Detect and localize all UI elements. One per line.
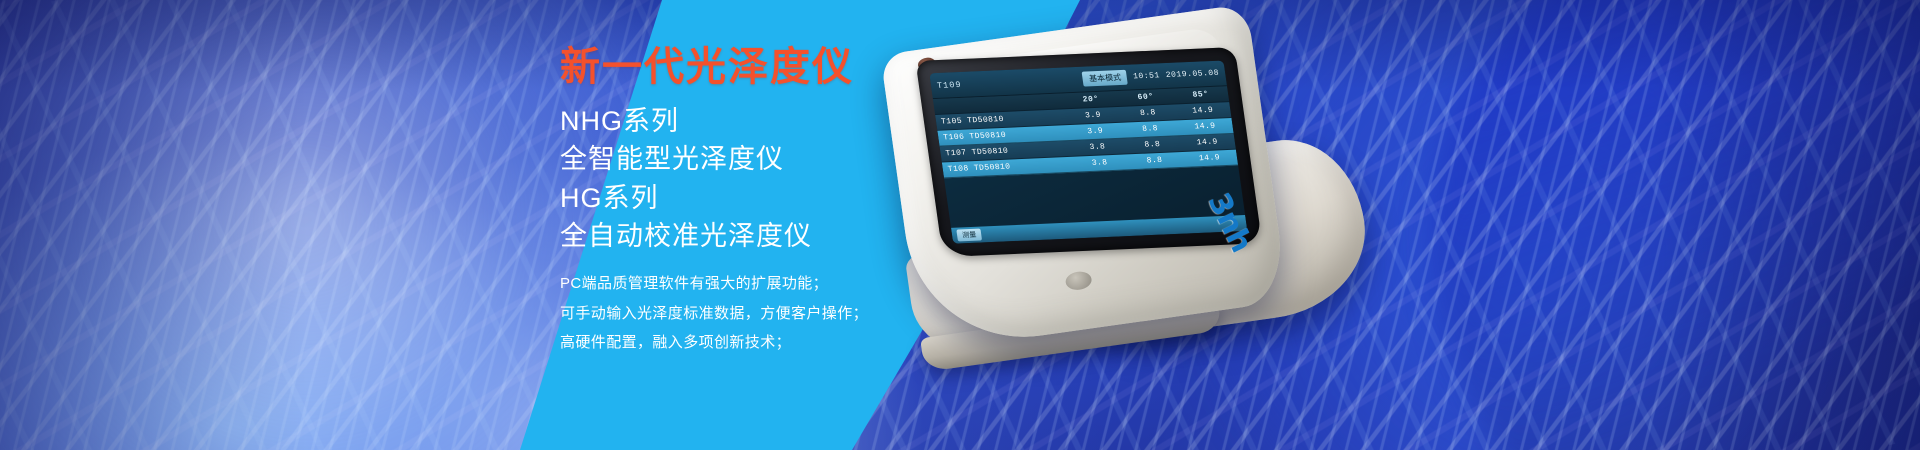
cell-60deg: 8.8 [1126, 152, 1183, 169]
feature-line-1: PC端品质管理软件有强大的扩展功能； [560, 269, 1030, 298]
col-header-85deg: 85° [1172, 86, 1229, 103]
clock-label: 10:51 [1133, 71, 1161, 81]
col-header-60deg: 60° [1117, 89, 1174, 106]
subtitle-line-3: HG系列 [560, 179, 1030, 217]
feature-line-3: 高硬件配置，融入多项创新技术； [560, 328, 1030, 357]
cell-85deg: 14.9 [1181, 150, 1238, 167]
cell-60deg: 8.8 [1119, 105, 1176, 122]
cell-60deg: 8.8 [1124, 136, 1181, 153]
cell-20deg: 3.8 [1069, 139, 1126, 156]
cell-85deg: 14.9 [1177, 118, 1234, 135]
cell-85deg: 14.9 [1179, 134, 1236, 151]
col-header-20deg: 20° [1062, 91, 1119, 108]
subtitle-line-2: 全智能型光泽度仪 [560, 140, 1030, 178]
cell-20deg: 3.9 [1067, 123, 1124, 140]
cell-60deg: 8.8 [1122, 120, 1179, 137]
banner-text-block: 新一代光泽度仪 NHG系列 全智能型光泽度仪 HG系列 全自动校准光泽度仪 PC… [560, 44, 1030, 357]
date-label: 2019.05.08 [1165, 69, 1219, 80]
cell-85deg: 14.9 [1174, 102, 1231, 119]
feature-list: PC端品质管理软件有强大的扩展功能； 可手动输入光泽度标准数据，方便客户操作； … [560, 269, 1030, 357]
feature-line-2: 可手动输入光泽度标准数据，方便客户操作； [560, 299, 1030, 328]
page-title: 新一代光泽度仪 [560, 44, 1030, 90]
product-banner: 新一代光泽度仪 NHG系列 全智能型光泽度仪 HG系列 全自动校准光泽度仪 PC… [0, 0, 1920, 450]
subtitle-line-4: 全自动校准光泽度仪 [560, 217, 1030, 255]
mode-badge[interactable]: 基本模式 [1082, 70, 1128, 87]
subtitle-line-1: NHG系列 [560, 102, 1030, 140]
cell-20deg: 3.9 [1065, 107, 1122, 124]
cell-20deg: 3.8 [1071, 154, 1128, 171]
subtitle-list: NHG系列 全智能型光泽度仪 HG系列 全自动校准光泽度仪 [560, 102, 1030, 255]
